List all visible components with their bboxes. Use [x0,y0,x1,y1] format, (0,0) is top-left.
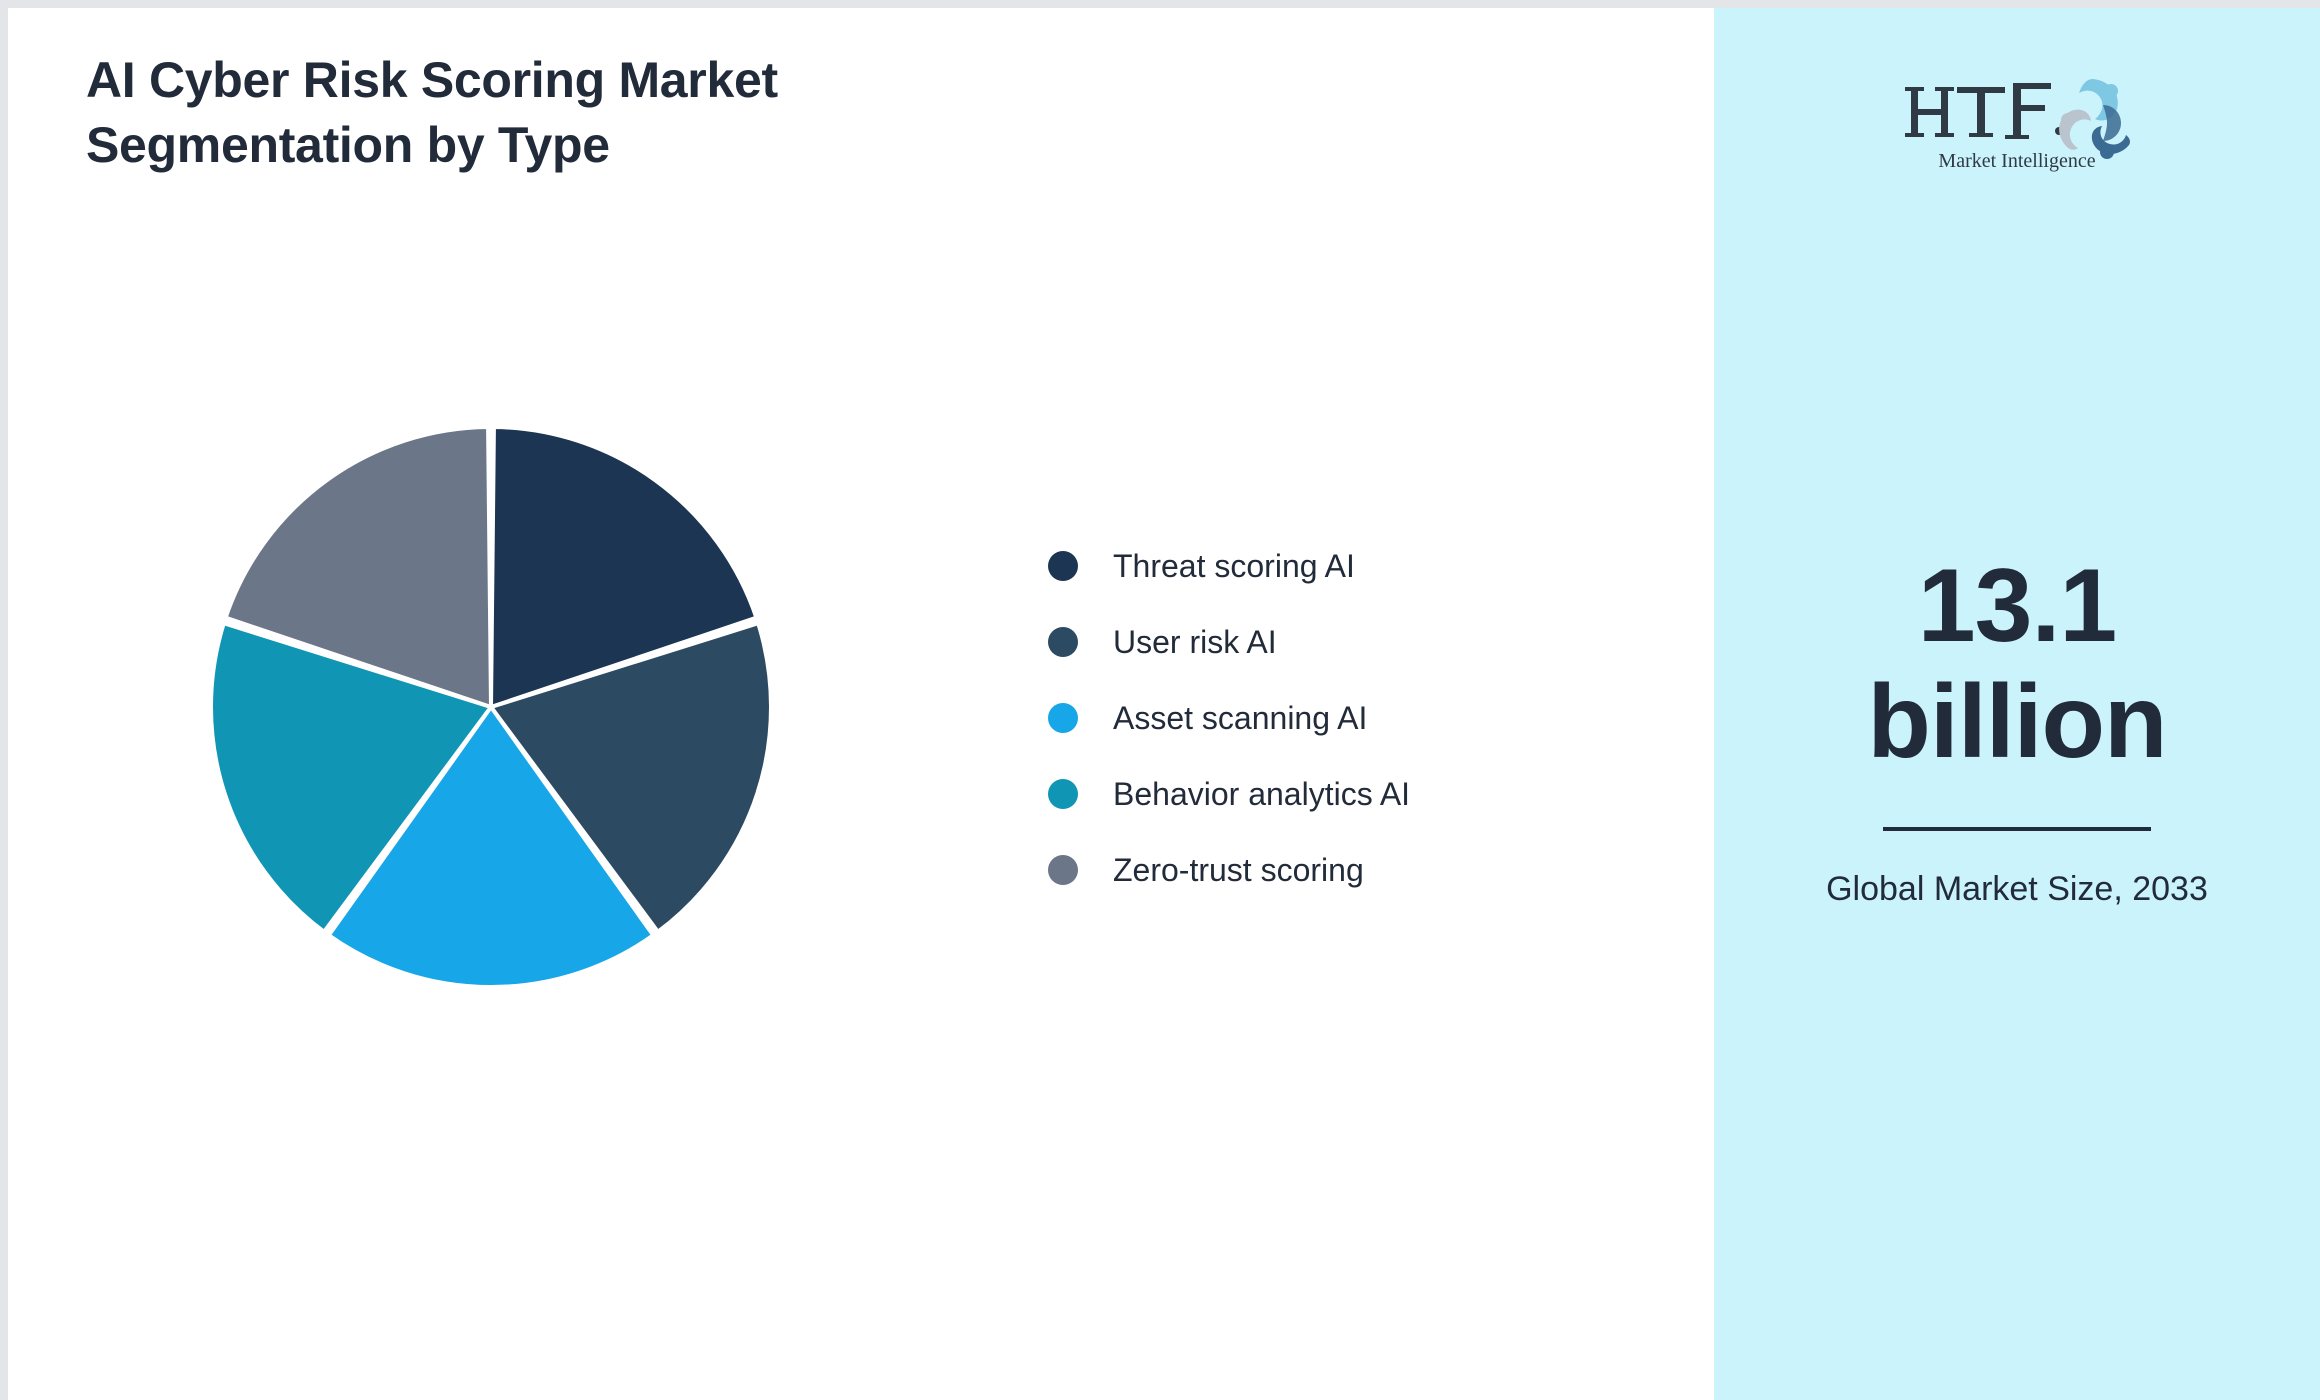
legend-item[interactable]: Asset scanning AI [1048,680,1568,756]
legend-swatch-icon [1048,703,1078,733]
legend-item[interactable]: Threat scoring AI [1048,528,1568,604]
stat-value: 13.1 billion [1764,548,2270,781]
legend-swatch-icon [1048,627,1078,657]
brand-logo: Market Intelligence [1714,66,2320,176]
chart-panel: AI Cyber Risk Scoring Market Segmentatio… [8,8,1714,1400]
legend-label: Zero-trust scoring [1113,854,1364,886]
legend-label: User risk AI [1113,626,1277,658]
legend-item[interactable]: Zero-trust scoring [1048,832,1568,908]
brand-tagline: Market Intelligence [1938,150,2095,172]
stat-panel: Market Intelligence 13.1 billion Global … [1714,8,2320,1400]
pie-chart [203,419,779,995]
legend-label: Behavior analytics AI [1113,778,1410,810]
infographic-canvas: AI Cyber Risk Scoring Market Segmentatio… [0,0,2320,1400]
legend-label: Asset scanning AI [1113,702,1367,734]
htf-swirl-logo-icon: Market Intelligence [1897,69,2137,173]
pie-slice-group [211,427,771,987]
page-title: AI Cyber Risk Scoring Market Segmentatio… [86,48,1086,178]
stat-block: 13.1 billion Global Market Size, 2033 [1764,548,2270,912]
legend-swatch-icon [1048,779,1078,809]
legend-swatch-icon [1048,855,1078,885]
legend-item[interactable]: User risk AI [1048,604,1568,680]
stat-caption: Global Market Size, 2033 [1764,867,2270,912]
chart-legend: Threat scoring AIUser risk AIAsset scann… [1048,528,1568,908]
pie-chart-svg [203,419,779,995]
stat-divider [1883,827,2151,831]
legend-item[interactable]: Behavior analytics AI [1048,756,1568,832]
legend-label: Threat scoring AI [1113,550,1355,582]
legend-swatch-icon [1048,551,1078,581]
